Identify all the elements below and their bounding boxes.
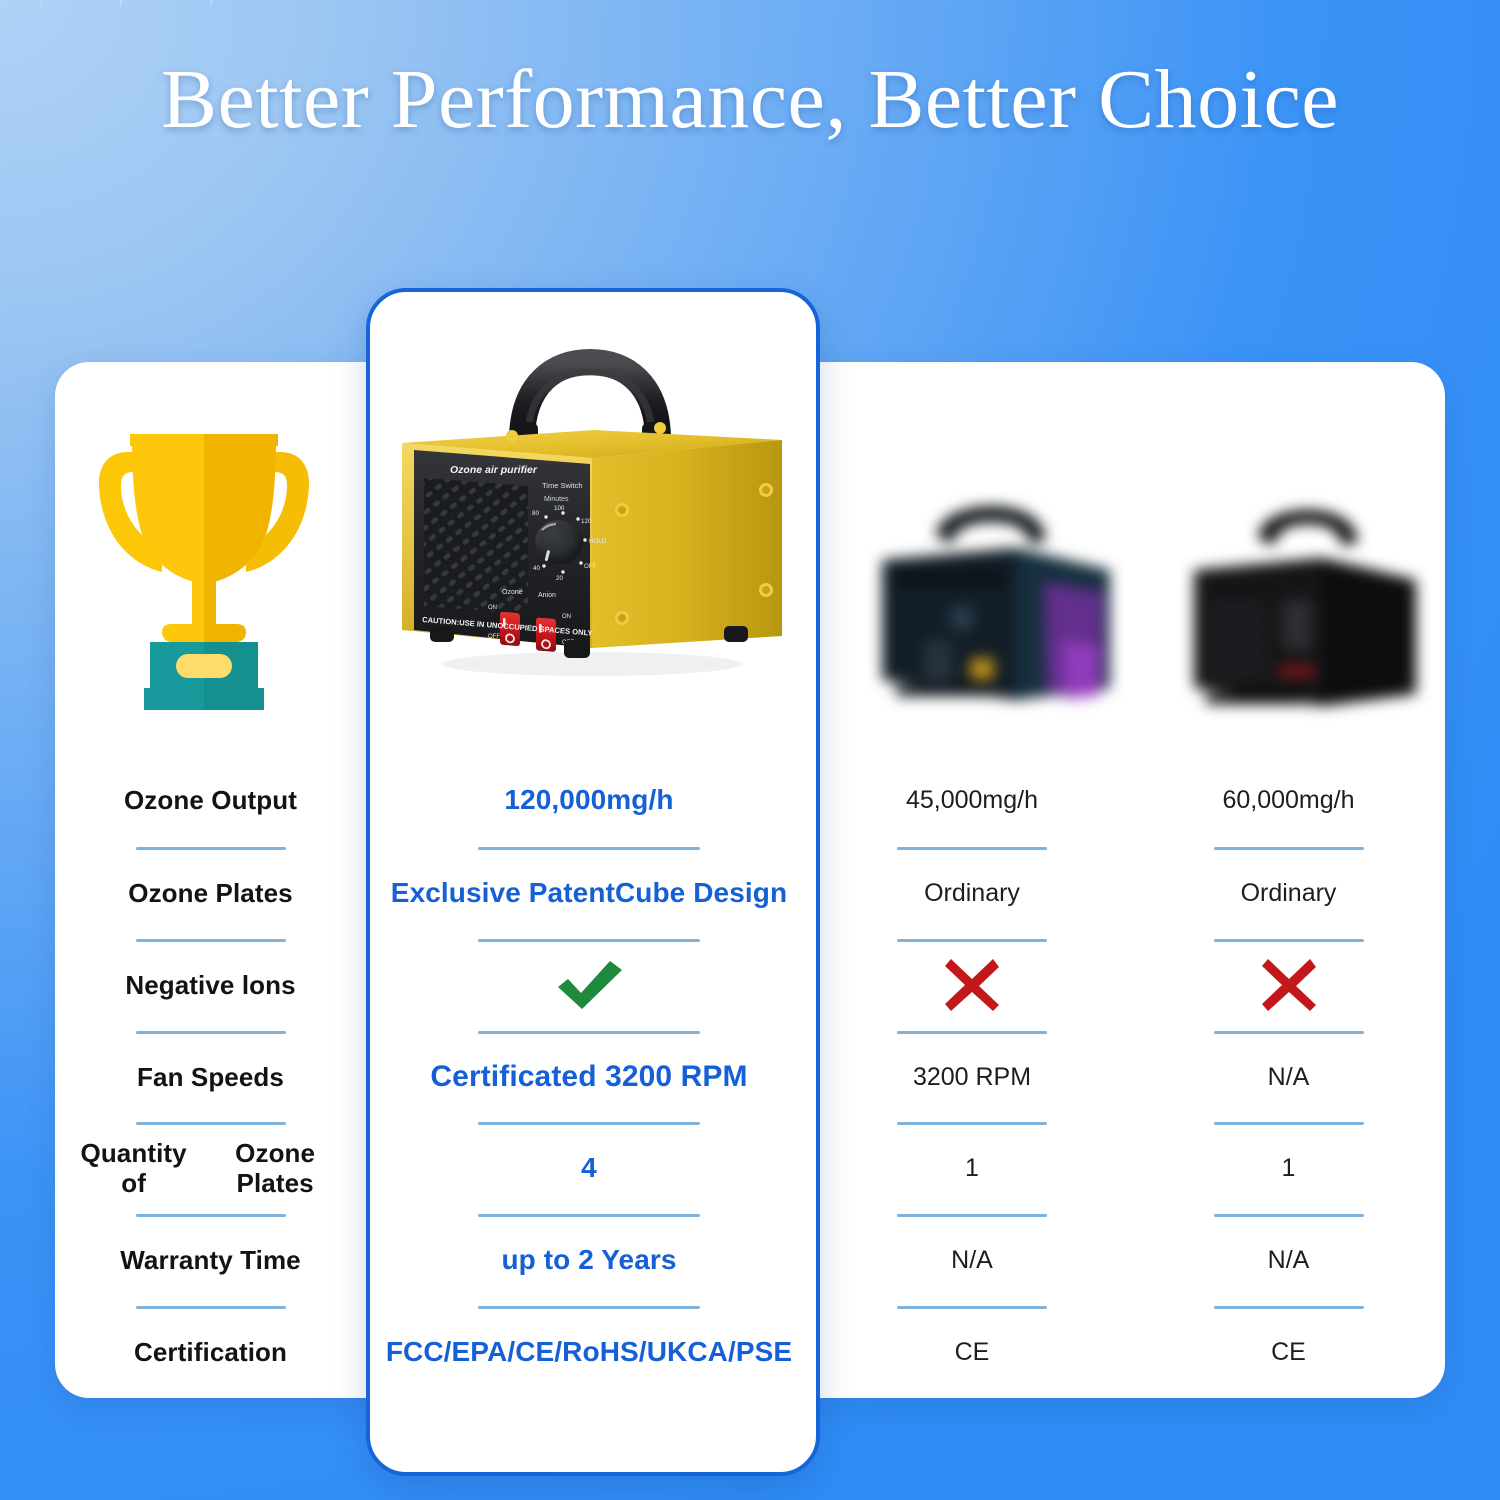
row-divider: [478, 939, 700, 942]
row-divider: [478, 1031, 700, 1034]
row-divider: [478, 1306, 700, 1309]
cell-featured: 120,000mg/h: [370, 755, 808, 845]
cell-featured: up to 2 Years: [370, 1215, 808, 1305]
cell-line: 45,000mg/h: [906, 785, 1038, 815]
cell-line: Ordinary: [1241, 878, 1337, 908]
row-label-line: Fan Speeds: [137, 1062, 284, 1092]
cell-featured: 4: [370, 1123, 808, 1213]
row-divider: [1214, 847, 1364, 850]
row-divider: [478, 847, 700, 850]
row-divider: [897, 1214, 1047, 1217]
row-divider: [136, 847, 286, 850]
row-label-line: Ozone Plates: [198, 1138, 352, 1198]
cell-line: N/A: [1268, 1062, 1310, 1092]
cell-line: CE: [955, 1337, 990, 1367]
cross-icon: [1260, 957, 1318, 1013]
row-divider: [897, 1306, 1047, 1309]
row-label-line: Negative lons: [125, 970, 295, 1000]
row-label: Fan Speeds: [55, 1032, 366, 1122]
cell-line: Certificated 3200 RPM: [430, 1059, 747, 1094]
cell-featured: Certificated 3200 RPM: [370, 1032, 808, 1122]
cell-featured: [370, 940, 808, 1030]
cell-line: Cube Design: [615, 876, 787, 909]
cell-line: CE: [1271, 1337, 1306, 1367]
row-divider: [897, 847, 1047, 850]
cell-competitor_2: 1: [1132, 1123, 1445, 1213]
cell-featured: FCC/EPA/CE/RoHS/UKCA/PSE: [370, 1307, 808, 1397]
row-label: Quantity ofOzone Plates: [55, 1123, 366, 1213]
row-divider: [136, 1214, 286, 1217]
row-label-line: Ozone Output: [124, 785, 297, 815]
row-divider: [1214, 1122, 1364, 1125]
row-label-line: Warranty Time: [120, 1245, 300, 1275]
cell-line: FCC/EPA/CE/RoHS/: [386, 1335, 647, 1368]
cell-line: up to 2 Years: [501, 1243, 676, 1276]
cell-competitor_2: [1132, 940, 1445, 1030]
cell-line: 60,000mg/h: [1222, 785, 1354, 815]
row-divider: [1214, 1214, 1364, 1217]
cell-competitor_1: CE: [812, 1307, 1132, 1397]
row-divider: [897, 939, 1047, 942]
row-label: Negative lons: [55, 940, 366, 1030]
row-divider: [1214, 1306, 1364, 1309]
row-label-line: Certification: [134, 1337, 287, 1367]
cell-competitor_2: 60,000mg/h: [1132, 755, 1445, 845]
cell-competitor_1: 3200 RPM: [812, 1032, 1132, 1122]
row-divider: [136, 1031, 286, 1034]
cell-line: 1: [1282, 1153, 1296, 1183]
cell-competitor_1: [812, 940, 1132, 1030]
cell-line: N/A: [1268, 1245, 1310, 1275]
cell-line: 1: [965, 1153, 979, 1183]
cell-competitor_1: 1: [812, 1123, 1132, 1213]
cell-line: 120,000mg/h: [504, 783, 673, 816]
row-divider: [478, 1214, 700, 1217]
cell-line: 4: [581, 1151, 597, 1184]
cell-line: N/A: [951, 1245, 993, 1275]
row-divider: [1214, 939, 1364, 942]
row-divider: [1214, 1031, 1364, 1034]
cell-competitor_2: CE: [1132, 1307, 1445, 1397]
row-divider: [897, 1122, 1047, 1125]
cell-competitor_1: N/A: [812, 1215, 1132, 1305]
cell-line: Exclusive Patent: [391, 876, 615, 909]
check-icon: [552, 957, 626, 1013]
row-divider: [136, 1122, 286, 1125]
row-divider: [136, 1306, 286, 1309]
cell-competitor_1: 45,000mg/h: [812, 755, 1132, 845]
row-divider: [136, 939, 286, 942]
cross-icon: [943, 957, 1001, 1013]
row-divider: [478, 1122, 700, 1125]
cell-competitor_2: Ordinary: [1132, 848, 1445, 938]
infographic-root: Better Performance, Better Choice: [0, 0, 1500, 1500]
row-label-line: Ozone Plates: [128, 878, 292, 908]
row-label: Ozone Output: [55, 755, 366, 845]
row-divider: [897, 1031, 1047, 1034]
row-label-line: Quantity of: [69, 1138, 198, 1198]
row-label: Warranty Time: [55, 1215, 366, 1305]
cell-line: Ordinary: [924, 878, 1020, 908]
cell-featured: Exclusive PatentCube Design: [370, 848, 808, 938]
cell-line: 3200 RPM: [913, 1062, 1031, 1092]
row-label: Ozone Plates: [55, 848, 366, 938]
row-label: Certification: [55, 1307, 366, 1397]
cell-competitor_1: Ordinary: [812, 848, 1132, 938]
cell-line: UKCA/PSE: [647, 1335, 793, 1368]
cell-competitor_2: N/A: [1132, 1215, 1445, 1305]
cell-competitor_2: N/A: [1132, 1032, 1445, 1122]
